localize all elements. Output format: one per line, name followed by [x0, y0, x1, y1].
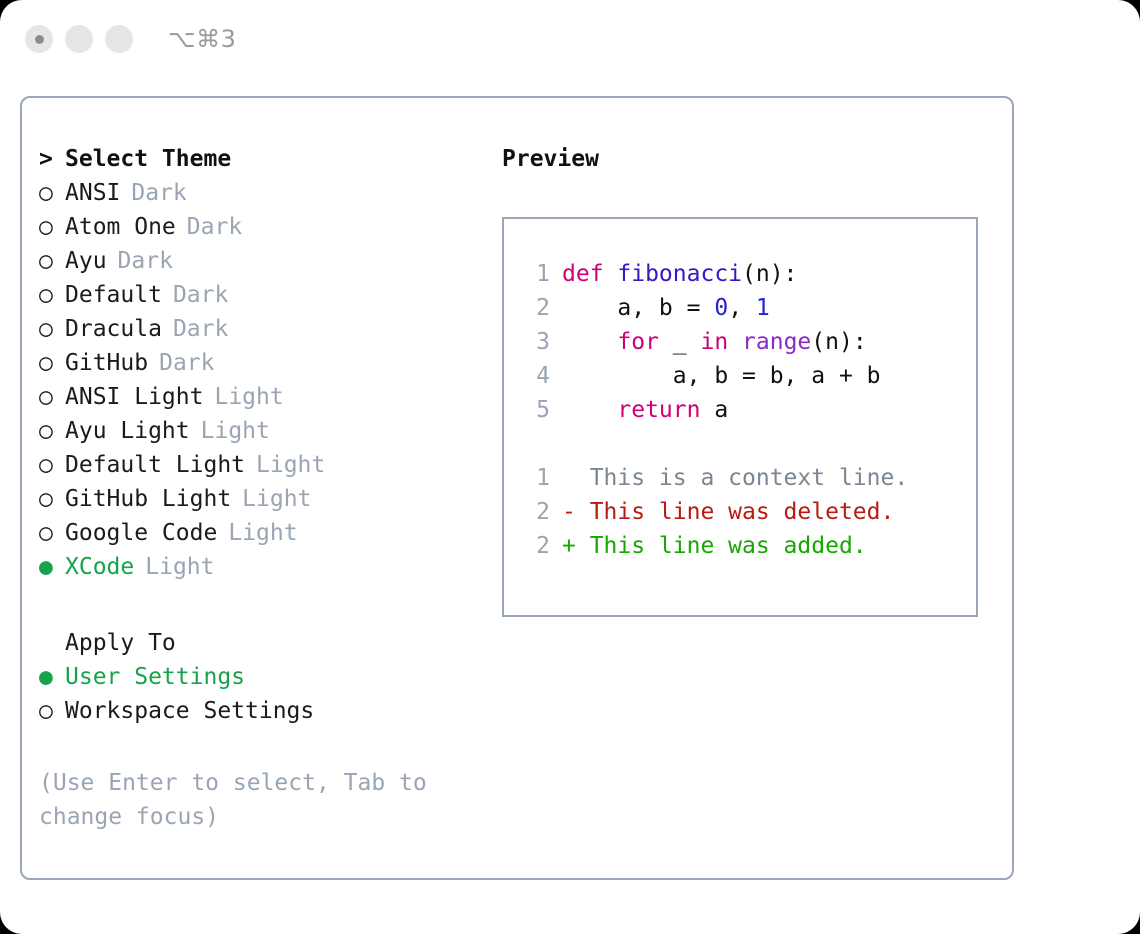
apply-to-header-label: Apply To	[65, 630, 176, 656]
radio-unselected-icon: ○	[39, 182, 65, 205]
radio-selected-icon: ●	[39, 556, 65, 579]
code-token-kw: for	[617, 329, 659, 355]
theme-variant-label: Dark	[159, 350, 214, 376]
theme-variant-label: Light	[242, 486, 311, 512]
keyboard-shortcut-label: ⌥⌘3	[168, 25, 236, 53]
diff-line: 2+ This line was added.	[524, 529, 968, 563]
apply-to-option[interactable]: ●User Settings	[39, 664, 469, 698]
theme-selector-panel: > Select Theme ○ANSIDark○Atom OneDark○Ay…	[39, 146, 469, 834]
code-token-plain: _	[659, 329, 701, 355]
theme-name-label: Ayu	[65, 248, 107, 274]
code-token-plain: (n):	[742, 261, 797, 287]
diff-line-text-add: + This line was added.	[562, 533, 867, 559]
apply-to-option-label: Workspace Settings	[65, 698, 314, 724]
section-spacer	[39, 588, 469, 630]
title-bar: ⌥⌘3	[0, 0, 1140, 78]
code-token-num: 1	[756, 295, 770, 321]
diff-line-number: 2	[524, 495, 550, 529]
radio-unselected-icon: ○	[39, 284, 65, 307]
apply-to-option[interactable]: ○Workspace Settings	[39, 698, 469, 732]
preview-box: 1def fibonacci(n):2 a, b = 0, 13 for _ i…	[502, 217, 978, 617]
code-token-plain	[728, 329, 742, 355]
radio-unselected-icon: ○	[39, 352, 65, 375]
code-token-plain: (n):	[811, 329, 866, 355]
window-control-third[interactable]	[105, 25, 133, 53]
theme-list: ○ANSIDark○Atom OneDark○AyuDark○DefaultDa…	[39, 180, 469, 588]
theme-name-label: Default	[65, 282, 162, 308]
code-line: 2 a, b = 0, 1	[524, 291, 968, 325]
radio-unselected-icon: ○	[39, 454, 65, 477]
apply-to-header-marker	[39, 632, 65, 655]
theme-variant-label: Dark	[173, 282, 228, 308]
code-token-plain	[562, 329, 617, 355]
code-sample: 1def fibonacci(n):2 a, b = 0, 13 for _ i…	[524, 257, 968, 427]
theme-variant-label: Light	[256, 452, 325, 478]
diff-line-text-del: - This line was deleted.	[562, 499, 894, 525]
theme-list-item[interactable]: ○ANSIDark	[39, 180, 469, 214]
theme-name-label: Ayu Light	[65, 418, 190, 444]
theme-list-item[interactable]: ○Atom OneDark	[39, 214, 469, 248]
code-token-plain	[562, 397, 617, 423]
preview-panel-container: Preview 1def fibonacci(n):2 a, b = 0, 13…	[502, 146, 992, 617]
radio-unselected-icon: ○	[39, 386, 65, 409]
select-theme-header: > Select Theme	[39, 146, 469, 180]
window-controls	[25, 25, 133, 53]
theme-variant-label: Light	[214, 384, 283, 410]
window-control-active[interactable]	[25, 25, 53, 53]
code-line-number: 2	[524, 291, 550, 325]
radio-unselected-icon: ○	[39, 216, 65, 239]
diff-line-number: 1	[524, 461, 550, 495]
code-token-plain: a	[700, 397, 728, 423]
main-window-frame: > Select Theme ○ANSIDark○Atom OneDark○Ay…	[20, 96, 1014, 880]
app-window: ⌥⌘3 > Select Theme ○ANSIDark○Atom OneDar…	[0, 0, 1140, 934]
select-theme-header-label: Select Theme	[65, 146, 231, 172]
theme-name-label: ANSI	[65, 180, 120, 206]
code-token-num: 0	[714, 295, 728, 321]
diff-line: 1 This is a context line.	[524, 461, 968, 495]
code-token-plain: a, b = b, a + b	[562, 363, 881, 389]
theme-variant-label: Dark	[173, 316, 228, 342]
radio-unselected-icon: ○	[39, 250, 65, 273]
radio-selected-icon: ●	[39, 666, 65, 689]
theme-list-item[interactable]: ○GitHub LightLight	[39, 486, 469, 520]
code-token-kw: in	[700, 329, 728, 355]
diff-line-number: 2	[524, 529, 550, 563]
theme-variant-label: Light	[228, 520, 297, 546]
theme-list-item[interactable]: ○ANSI LightLight	[39, 384, 469, 418]
apply-to-header: Apply To	[39, 630, 469, 664]
theme-name-label: Dracula	[65, 316, 162, 342]
radio-unselected-icon: ○	[39, 420, 65, 443]
theme-list-item[interactable]: ○Ayu LightLight	[39, 418, 469, 452]
theme-variant-label: Light	[201, 418, 270, 444]
code-token-kw: return	[617, 397, 700, 423]
radio-unselected-icon: ○	[39, 522, 65, 545]
theme-list-item[interactable]: ○AyuDark	[39, 248, 469, 282]
diff-sample: 1 This is a context line.2- This line wa…	[524, 461, 968, 563]
theme-name-label: GitHub	[65, 350, 148, 376]
apply-to-option-list: ●User Settings○Workspace Settings	[39, 664, 469, 732]
theme-name-label: Default Light	[65, 452, 245, 478]
code-line: 3 for _ in range(n):	[524, 325, 968, 359]
radio-unselected-icon: ○	[39, 700, 65, 723]
code-line: 1def fibonacci(n):	[524, 257, 968, 291]
radio-unselected-icon: ○	[39, 488, 65, 511]
prompt-caret-icon: >	[39, 148, 65, 171]
theme-variant-label: Dark	[131, 180, 186, 206]
code-token-plain: a, b =	[562, 295, 714, 321]
theme-name-label: Atom One	[65, 214, 176, 240]
code-line: 5 return a	[524, 393, 968, 427]
theme-variant-label: Light	[145, 554, 214, 580]
code-line: 4 a, b = b, a + b	[524, 359, 968, 393]
theme-list-item[interactable]: ○Google CodeLight	[39, 520, 469, 554]
code-line-number: 1	[524, 257, 550, 291]
theme-list-item[interactable]: ○GitHubDark	[39, 350, 469, 384]
code-token-fn: fibonacci	[617, 261, 742, 287]
theme-list-item[interactable]: ○DraculaDark	[39, 316, 469, 350]
code-token-kw: def	[562, 261, 617, 287]
theme-name-label: XCode	[65, 554, 134, 580]
theme-list-item[interactable]: ●XCodeLight	[39, 554, 469, 588]
code-token-call: range	[742, 329, 811, 355]
window-control-second[interactable]	[65, 25, 93, 53]
theme-list-item[interactable]: ○DefaultDark	[39, 282, 469, 316]
theme-list-item[interactable]: ○Default LightLight	[39, 452, 469, 486]
code-line-number: 3	[524, 325, 550, 359]
active-indicator-dot	[35, 35, 44, 44]
theme-name-label: ANSI Light	[65, 384, 203, 410]
radio-unselected-icon: ○	[39, 318, 65, 341]
theme-variant-label: Dark	[187, 214, 242, 240]
code-line-number: 4	[524, 359, 550, 393]
diff-line: 2- This line was deleted.	[524, 495, 968, 529]
apply-to-option-label: User Settings	[65, 664, 245, 690]
theme-variant-label: Dark	[118, 248, 173, 274]
keyboard-hint-text: (Use Enter to select, Tab to change focu…	[39, 766, 449, 834]
hint-spacer	[39, 732, 469, 766]
preview-title: Preview	[502, 146, 992, 180]
code-line-number: 5	[524, 393, 550, 427]
theme-name-label: GitHub Light	[65, 486, 231, 512]
window-content: > Select Theme ○ANSIDark○Atom OneDark○Ay…	[22, 98, 1012, 878]
code-token-plain: ,	[728, 295, 756, 321]
theme-name-label: Google Code	[65, 520, 217, 546]
diff-line-text-ctx: This is a context line.	[562, 465, 908, 491]
